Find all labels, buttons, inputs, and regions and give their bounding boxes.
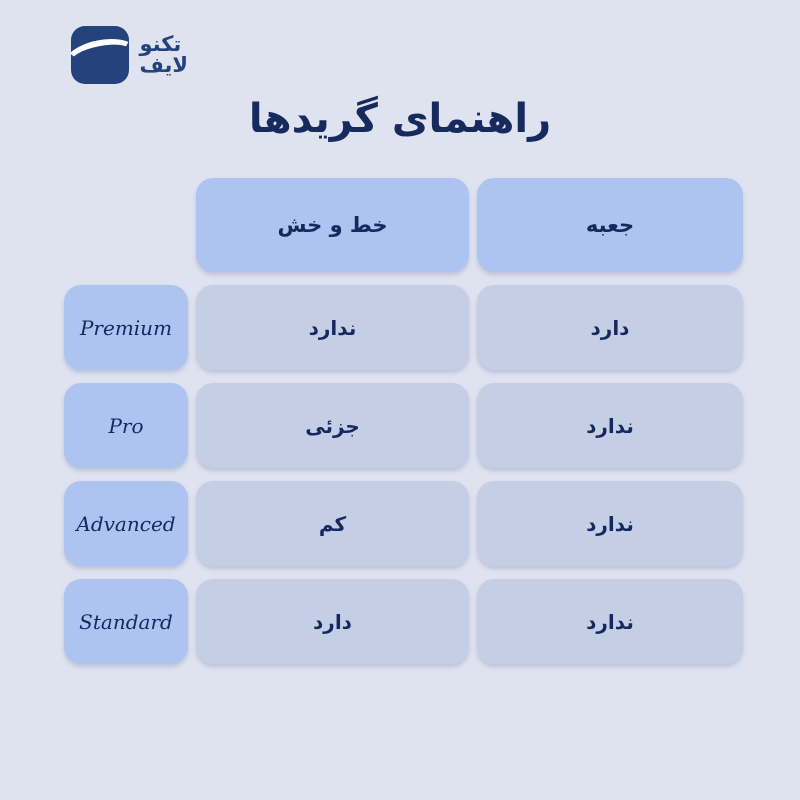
cell-box: دارد [477, 285, 743, 370]
header-cell-scratches: خط و خش [196, 178, 469, 272]
table-row: Advanced کم ندارد [64, 481, 752, 566]
techno-life-swoosh-logo-icon [71, 26, 129, 84]
cell-box: ندارد [477, 481, 743, 566]
table-header-row: خط و خش جعبه [64, 178, 752, 272]
brand-name-line2: لایف [139, 55, 188, 76]
grade-label-advanced: Advanced [64, 481, 188, 566]
header-grade-spacer [64, 178, 188, 272]
cell-box: ندارد [477, 579, 743, 664]
grade-label-standard: Standard [64, 579, 188, 664]
brand-logo: تکنو لایف [71, 26, 188, 84]
table-row: Standard دارد ندارد [64, 579, 752, 664]
header-cell-box: جعبه [477, 178, 743, 272]
cell-scratches: جزئی [196, 383, 469, 468]
table-row: Premium ندارد دارد [64, 285, 752, 370]
cell-scratches: دارد [196, 579, 469, 664]
grades-comparison-table: خط و خش جعبه Premium ندارد دارد Pro جزئی… [64, 178, 752, 677]
cell-box: ندارد [477, 383, 743, 468]
cell-scratches: کم [196, 481, 469, 566]
brand-name-line1: تکنو [139, 34, 181, 55]
brand-name: تکنو لایف [139, 34, 188, 77]
page-title: راهنمای گریدها [0, 96, 800, 142]
grade-label-pro: Pro [64, 383, 188, 468]
grade-label-premium: Premium [64, 285, 188, 370]
cell-scratches: ندارد [196, 285, 469, 370]
table-row: Pro جزئی ندارد [64, 383, 752, 468]
